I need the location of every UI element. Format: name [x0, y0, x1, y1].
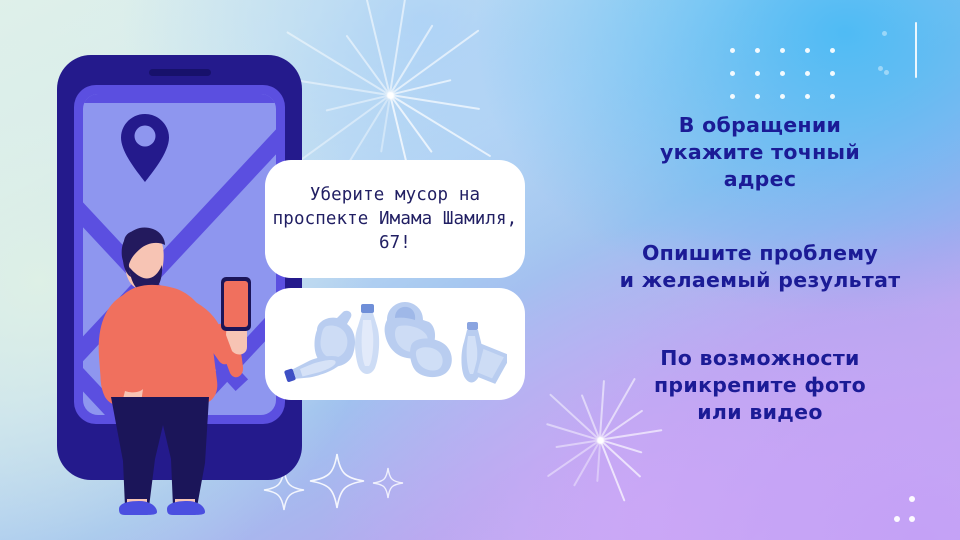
attached-photo-bubble: [265, 288, 525, 400]
starburst-core: [387, 92, 394, 99]
map-road: [83, 94, 276, 103]
starburst-ray: [389, 24, 433, 95]
starburst-ray: [390, 94, 480, 110]
starburst-ray: [389, 0, 411, 95]
message-attach-media: По возможности прикрепите фото или видео: [560, 345, 960, 426]
plastic-waste-photo: [283, 300, 507, 388]
four-point-sparkle-icon: [372, 467, 404, 499]
message-line: адрес: [560, 166, 960, 193]
message-column: В обращении укажите точный адрес Опишите…: [560, 0, 960, 540]
starburst-ray: [380, 95, 391, 153]
message-exact-address: В обращении укажите точный адрес: [560, 112, 960, 193]
plastic-bottle: [355, 304, 379, 374]
starburst-ray: [346, 34, 391, 95]
message-line: По возможности: [560, 345, 960, 372]
starburst-ray: [287, 31, 391, 96]
message-line: и желаемый результат: [560, 267, 960, 294]
starburst-ray: [390, 94, 491, 157]
starburst-ray: [326, 94, 391, 111]
speech-bubble-line: Уберите мусор: [310, 185, 448, 205]
message-line: В обращении: [560, 112, 960, 139]
message-line: Опишите проблему: [560, 240, 960, 267]
speech-bubble-text: Уберите мусор на проспекте Имама Шамиля,…: [265, 183, 525, 255]
phone-speaker: [149, 69, 211, 76]
starburst-icon: [300, 10, 480, 180]
message-line: укажите точный: [560, 139, 960, 166]
message-line: прикрепите фото: [560, 372, 960, 399]
message-describe-problem: Опишите проблему и желаемый результат: [560, 240, 960, 294]
map-pin-icon: [119, 112, 171, 184]
starburst-ray: [345, 95, 391, 169]
poster-canvas: Уберите мусор на проспекте Имама Шамиля,…: [0, 0, 960, 540]
starburst-ray: [365, 0, 390, 95]
man-with-phone: [85, 215, 265, 515]
starburst-ray: [390, 79, 452, 95]
starburst-ray: [390, 30, 480, 96]
message-line: или видео: [560, 399, 960, 426]
speech-bubble-line: Имама Шамиля, 67!: [379, 209, 517, 253]
speech-bubble: Уберите мусор на проспекте Имама Шамиля,…: [265, 160, 525, 278]
starburst-ray: [298, 94, 390, 162]
starburst-ray: [298, 80, 391, 96]
starburst-ray: [389, 95, 432, 154]
four-point-sparkle-icon: [308, 452, 366, 510]
